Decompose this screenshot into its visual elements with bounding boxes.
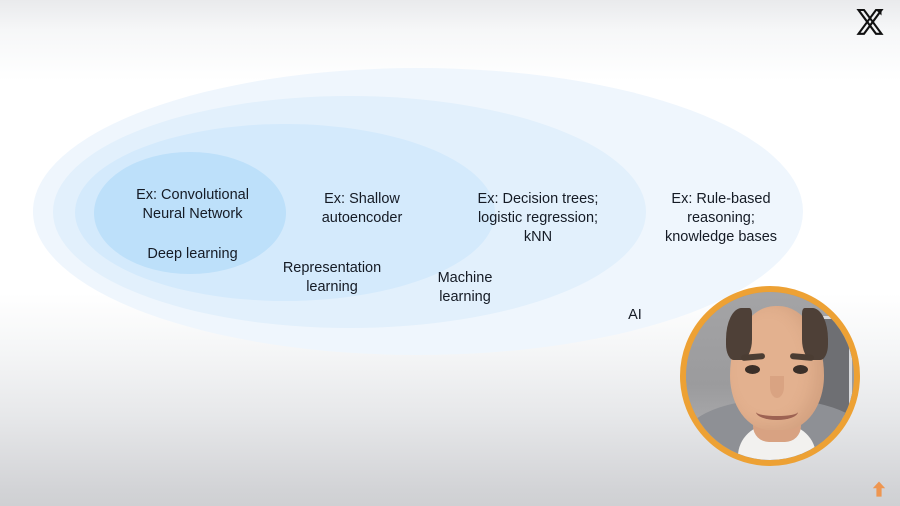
presenter-video-bubble[interactable] xyxy=(680,286,860,466)
example-label-ai: Ex: Rule-based reasoning; knowledge base… xyxy=(630,190,812,247)
slide-canvas: Ex: Convolutional Neural Network Deep le… xyxy=(0,0,900,506)
presenter-nose xyxy=(770,376,784,398)
tier-label-deep-learning: Deep learning xyxy=(105,245,280,264)
tier-label-ai: AI xyxy=(600,306,670,325)
crossed-x-logo-icon xyxy=(853,5,887,39)
presenter-hair-left xyxy=(726,308,752,360)
presenter-eye-right xyxy=(793,365,808,374)
presenter-eye-left xyxy=(745,365,760,374)
presenter-video-frame xyxy=(686,292,854,460)
example-label-machine-learning: Ex: Decision trees; logistic regression;… xyxy=(448,190,628,247)
tier-label-representation-learning: Representation learning xyxy=(256,259,408,297)
presenter-mouth xyxy=(756,404,798,420)
up-arrow-icon[interactable] xyxy=(871,480,887,498)
example-label-representation-learning: Ex: Shallow autoencoder xyxy=(282,190,442,228)
tier-label-machine-learning: Machine learning xyxy=(410,269,520,307)
example-label-deep-learning: Ex: Convolutional Neural Network xyxy=(105,186,280,224)
